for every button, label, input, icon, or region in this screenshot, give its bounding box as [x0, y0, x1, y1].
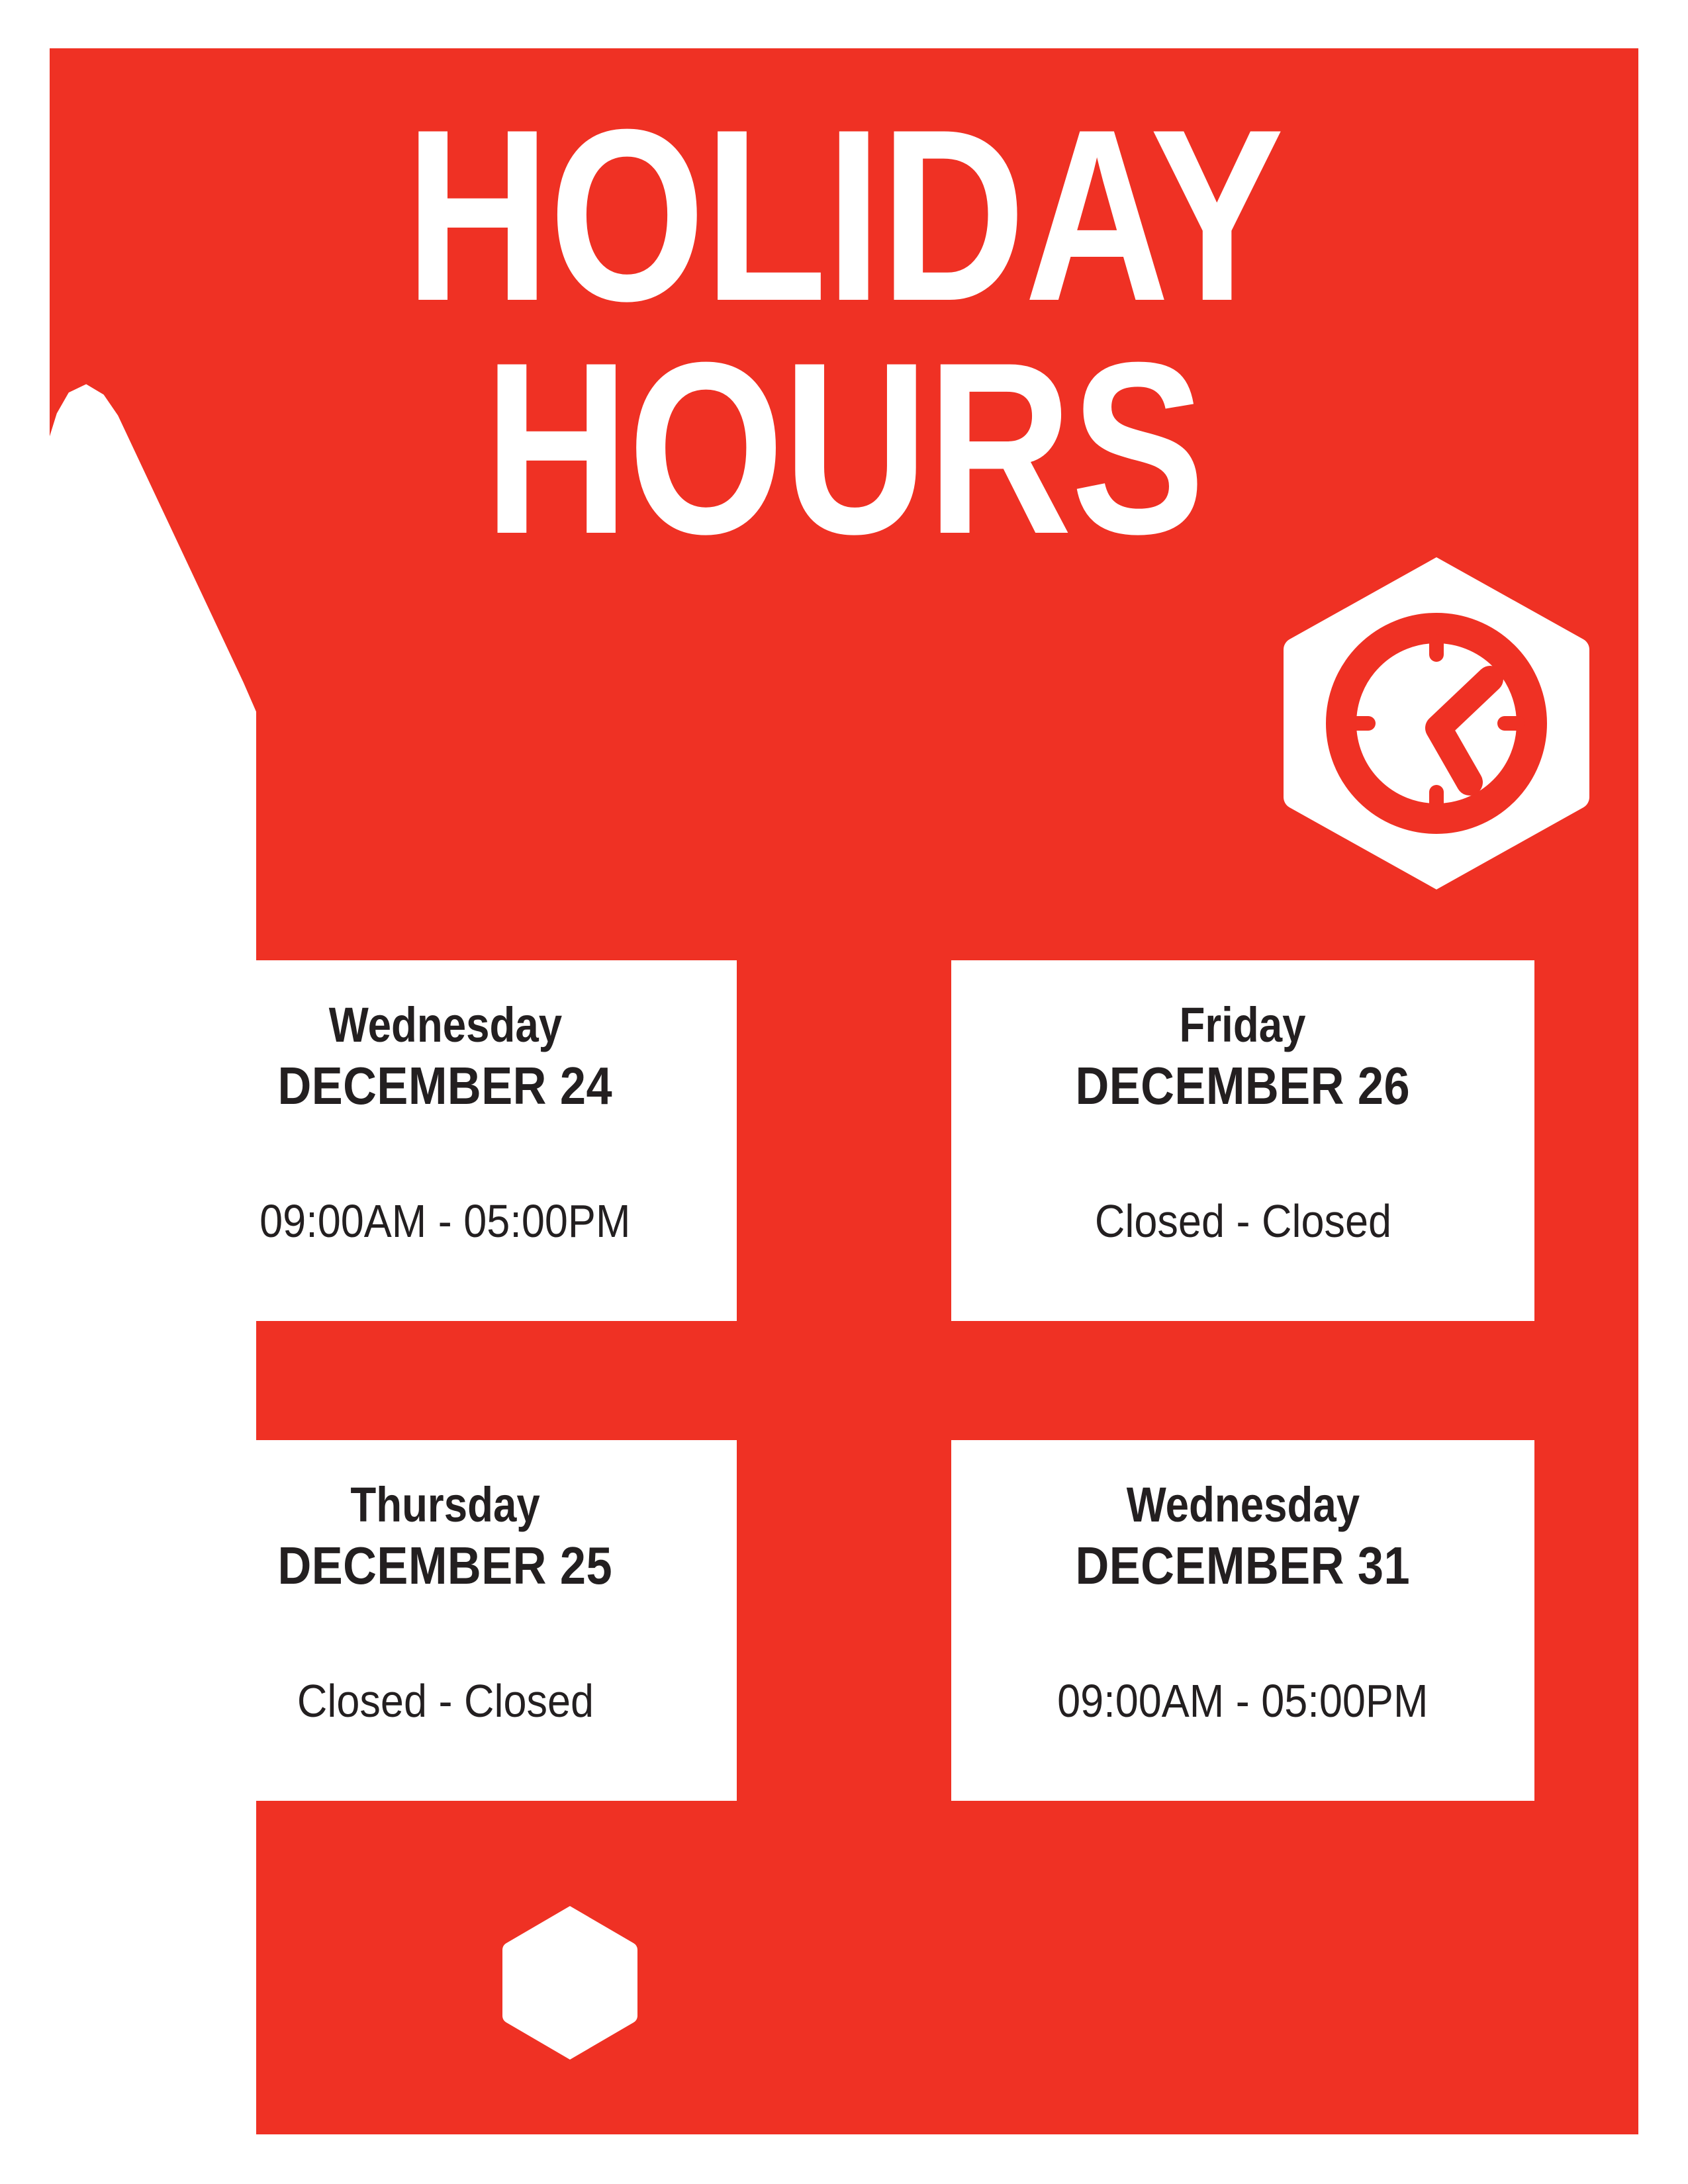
card-day-label: Friday: [1180, 999, 1306, 1052]
holiday-hours-poster: HOLIDAY HOURS Wednesday DECEMBER 24 09:0…: [0, 0, 1688, 2184]
card-hours-label: Closed - Closed: [297, 1674, 593, 1727]
hour-card: Friday DECEMBER 26 Closed - Closed: [951, 960, 1534, 1321]
hexagon-shape-icon: [501, 1905, 639, 2061]
card-hours-label: 09:00AM - 05:00PM: [259, 1195, 630, 1248]
page-title: HOLIDAY HOURS: [50, 99, 1638, 565]
card-day-label: Wednesday: [328, 999, 562, 1052]
hour-card: Wednesday DECEMBER 31 09:00AM - 05:00PM: [951, 1440, 1534, 1801]
card-date-label: DECEMBER 25: [278, 1535, 613, 1596]
card-day-label: Wednesday: [1126, 1479, 1360, 1531]
card-hours-label: Closed - Closed: [1094, 1195, 1391, 1248]
title-line-holiday: HOLIDAY: [193, 99, 1495, 332]
clock-hexagon-icon: [1278, 555, 1595, 892]
card-date-label: DECEMBER 24: [278, 1056, 613, 1116]
card-date-label: DECEMBER 26: [1076, 1056, 1411, 1116]
card-date-label: DECEMBER 31: [1076, 1535, 1411, 1596]
title-line-hours: HOURS: [193, 332, 1495, 565]
card-hours-label: 09:00AM - 05:00PM: [1057, 1674, 1428, 1727]
hour-card: Wednesday DECEMBER 24 09:00AM - 05:00PM: [154, 960, 737, 1321]
card-day-label: Thursday: [350, 1479, 539, 1531]
hours-card-grid: Wednesday DECEMBER 24 09:00AM - 05:00PM …: [154, 960, 1534, 1801]
hour-card: Thursday DECEMBER 25 Closed - Closed: [154, 1440, 737, 1801]
